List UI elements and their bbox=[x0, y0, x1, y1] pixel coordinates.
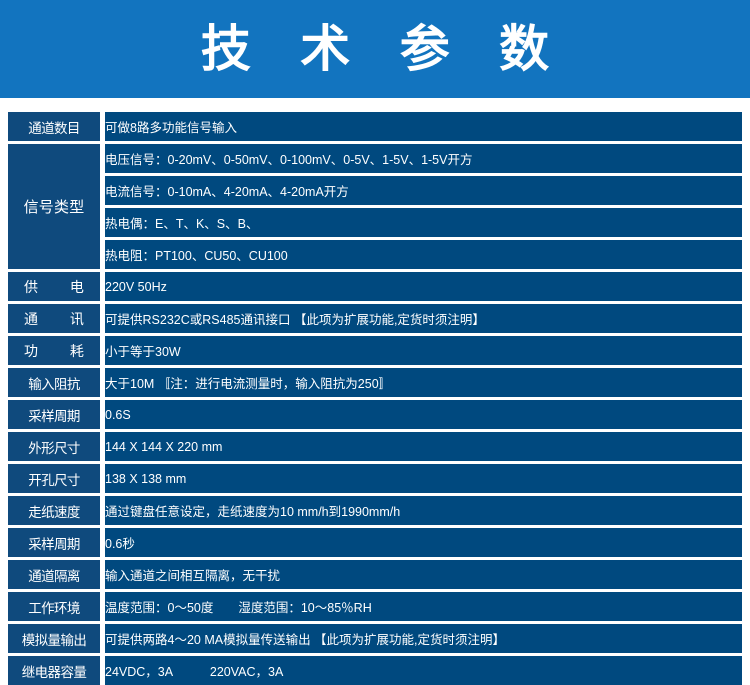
spec-label-outline-dimensions: 外形尺寸 bbox=[8, 432, 105, 464]
spec-value-relay-capacity: 24VDC，3A 220VAC，3A bbox=[105, 656, 742, 685]
table-row: 通 讯 可提供RS232C或RS485通讯接口 【此项为扩展功能,定货时须注明】 bbox=[8, 304, 742, 336]
spec-value-signal-current: 电流信号：0-10mA、4-20mA、4-20mA开方 bbox=[105, 176, 742, 208]
table-row: 通道隔离 输入通道之间相互隔离，无干扰 bbox=[8, 560, 742, 592]
spec-value-sampling-period-2: 0.6秒 bbox=[105, 528, 742, 560]
spec-value-cutout-dimensions: 138 X 138 mm bbox=[105, 464, 742, 496]
spec-value-sampling-period-1: 0.6S bbox=[105, 400, 742, 432]
spec-value-channel-isolation: 输入通道之间相互隔离，无干扰 bbox=[105, 560, 742, 592]
page-title: 技 术 参 数 bbox=[185, 24, 565, 74]
spec-value-operating-environment: 温度范围：0～50度 湿度范围：10～85％RH bbox=[105, 592, 742, 624]
spec-value-signal-voltage: 电压信号：0-20mV、0-50mV、0-100mV、0-5V、1-5V、1-5… bbox=[105, 144, 742, 176]
spec-label-power-consumption: 功 耗 bbox=[8, 336, 105, 368]
spec-value-power-supply: 220V 50Hz bbox=[105, 272, 742, 304]
table-row: 通道数目 可做8路多功能信号输入 bbox=[8, 112, 742, 144]
spec-label-sampling-period-1: 采样周期 bbox=[8, 400, 105, 432]
spec-value-communication: 可提供RS232C或RS485通讯接口 【此项为扩展功能,定货时须注明】 bbox=[105, 304, 742, 336]
table-row: 输入阻抗 大于10M 〚注：进行电流测量时，输入阻抗为250〛 bbox=[8, 368, 742, 400]
spec-label-input-impedance: 输入阻抗 bbox=[8, 368, 105, 400]
spec-label-analog-output: 模拟量输出 bbox=[8, 624, 105, 656]
page-header-banner: 技 术 参 数 bbox=[0, 0, 750, 98]
spec-value-power-consumption: 小于等于30W bbox=[105, 336, 742, 368]
table-row: 供 电 220V 50Hz bbox=[8, 272, 742, 304]
spec-value-input-impedance: 大于10M 〚注：进行电流测量时，输入阻抗为250〛 bbox=[105, 368, 742, 400]
spec-value-analog-output: 可提供两路4～20 MA模拟量传送输出 【此项为扩展功能,定货时须注明】 bbox=[105, 624, 742, 656]
spec-label-operating-environment: 工作环境 bbox=[8, 592, 105, 624]
table-row: 功 耗 小于等于30W bbox=[8, 336, 742, 368]
spec-label-channel-count: 通道数目 bbox=[8, 112, 105, 144]
tech-spec-page: 技 术 参 数 通道数目 可做8路多功能信号输入 信号类型 电压信号：0-20m… bbox=[0, 0, 750, 622]
spec-label-sampling-period-2: 采样周期 bbox=[8, 528, 105, 560]
spec-value-signal-rtd: 热电阻：PT100、CU50、CU100 bbox=[105, 240, 742, 272]
spec-value-signal-thermocouple: 热电偶：E、T、K、S、B、 bbox=[105, 208, 742, 240]
table-row: 采样周期 0.6秒 bbox=[8, 528, 742, 560]
table-row: 热电阻：PT100、CU50、CU100 bbox=[8, 240, 742, 272]
spec-value-channel-count: 可做8路多功能信号输入 bbox=[105, 112, 742, 144]
table-row: 走纸速度 通过键盘任意设定，走纸速度为10 mm/h到1990mm/h bbox=[8, 496, 742, 528]
table-row: 继电器容量 24VDC，3A 220VAC，3A bbox=[8, 656, 742, 685]
spec-label-communication: 通 讯 bbox=[8, 304, 105, 336]
table-row: 模拟量输出 可提供两路4～20 MA模拟量传送输出 【此项为扩展功能,定货时须注… bbox=[8, 624, 742, 656]
spec-label-relay-capacity: 继电器容量 bbox=[8, 656, 105, 685]
spec-label-channel-isolation: 通道隔离 bbox=[8, 560, 105, 592]
table-row: 电流信号：0-10mA、4-20mA、4-20mA开方 bbox=[8, 176, 742, 208]
spec-label-cutout-dimensions: 开孔尺寸 bbox=[8, 464, 105, 496]
table-row: 热电偶：E、T、K、S、B、 bbox=[8, 208, 742, 240]
spec-label-paper-speed: 走纸速度 bbox=[8, 496, 105, 528]
table-row: 信号类型 电压信号：0-20mV、0-50mV、0-100mV、0-5V、1-5… bbox=[8, 144, 742, 176]
spec-label-signal-type: 信号类型 bbox=[8, 144, 105, 272]
table-row: 外形尺寸 144 X 144 X 220 mm bbox=[8, 432, 742, 464]
spec-value-paper-speed: 通过键盘任意设定，走纸速度为10 mm/h到1990mm/h bbox=[105, 496, 742, 528]
table-row: 工作环境 温度范围：0～50度 湿度范围：10～85％RH bbox=[8, 592, 742, 624]
spec-value-outline-dimensions: 144 X 144 X 220 mm bbox=[105, 432, 742, 464]
tech-spec-table: 通道数目 可做8路多功能信号输入 信号类型 电压信号：0-20mV、0-50mV… bbox=[8, 112, 742, 685]
spec-label-power-supply: 供 电 bbox=[8, 272, 105, 304]
table-row: 采样周期 0.6S bbox=[8, 400, 742, 432]
table-row: 开孔尺寸 138 X 138 mm bbox=[8, 464, 742, 496]
